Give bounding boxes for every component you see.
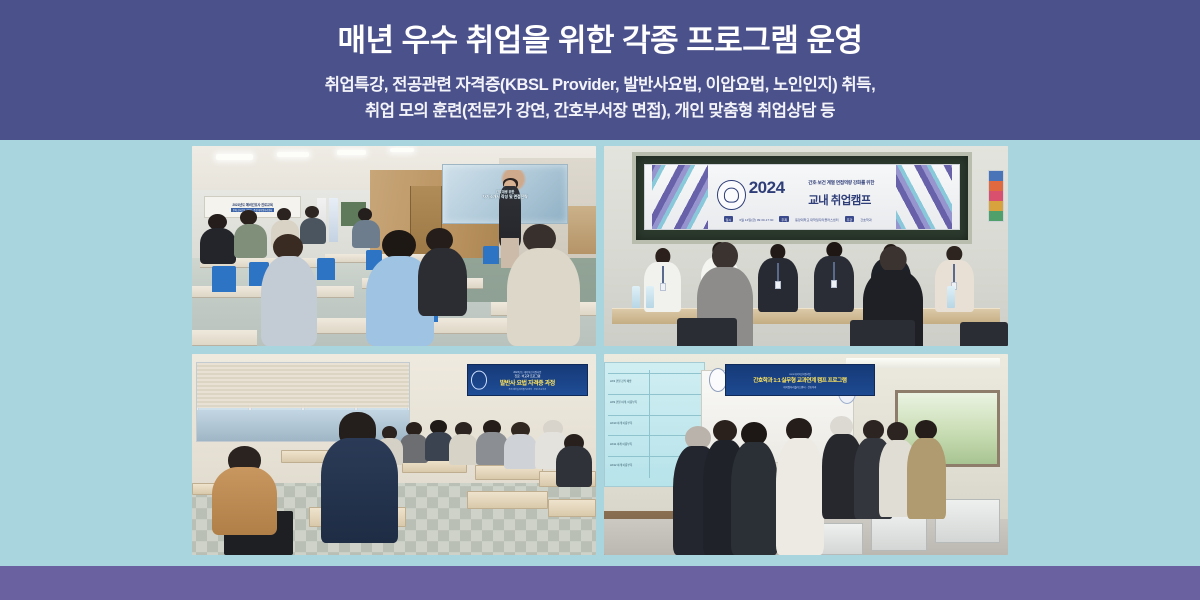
student-body bbox=[261, 256, 318, 346]
water-bottle bbox=[646, 286, 654, 308]
banner-meta-chip-date: 일시 bbox=[724, 216, 734, 222]
banner-year: 2024 bbox=[749, 178, 785, 198]
student-body bbox=[200, 228, 236, 264]
banner-meta-chip-org: 주관 bbox=[845, 216, 855, 222]
id-badge bbox=[775, 281, 781, 289]
event-banner: 2024 간호·보건 계열 면접역량 강화를 위한 교내 취업캠프 일시 6월 … bbox=[644, 164, 959, 230]
photo-lecture-hall: 2021년도 예비간호사 진로교육 주최 한국간호사협회 · 주관 대학일자리센… bbox=[192, 146, 596, 346]
chart-band bbox=[989, 171, 1003, 181]
chart-band bbox=[989, 191, 1003, 201]
panelist bbox=[814, 242, 854, 312]
banner-organizer: 주최 대학일자리플러스센터 · 주관 간호학과 bbox=[509, 388, 546, 391]
id-badge bbox=[831, 280, 837, 288]
banner-subtitle: 간호·보건 계열 면접역량 강화를 위한 bbox=[808, 180, 874, 186]
subtitle-line-1: 취업특강, 전공관련 자격증(KBSL Provider, 발반사요법, 이압요… bbox=[325, 73, 876, 99]
slide-root: 매년 우수 취업을 위한 각종 프로그램 운영 취업특강, 전공관련 자격증(K… bbox=[0, 0, 1200, 600]
page-subtitle: 취업특강, 전공관련 자격증(KBSL Provider, 발반사요법, 이압요… bbox=[325, 73, 876, 124]
classroom-chair bbox=[212, 266, 236, 292]
ceiling-light bbox=[390, 148, 414, 152]
footer-bar bbox=[0, 566, 1200, 600]
job-camp-scene: 2024 간호·보건 계열 면접역량 강화를 위한 교내 취업캠프 일시 6월 … bbox=[604, 146, 1008, 346]
chart-band bbox=[989, 181, 1003, 191]
ceiling-light bbox=[216, 154, 252, 160]
photo-gallery: 2021년도 예비간호사 진로교육 주최 한국간호사협회 · 주관 대학일자리센… bbox=[192, 146, 1008, 555]
student-head bbox=[887, 422, 908, 441]
window-row bbox=[196, 362, 410, 442]
university-emblem-icon bbox=[471, 371, 486, 390]
chart-band bbox=[989, 201, 1003, 211]
header-band: 매년 우수 취업을 위한 각종 프로그램 운영 취업특강, 전공관련 자격증(K… bbox=[0, 0, 1200, 140]
student-body bbox=[507, 248, 580, 346]
slide-line-1: 간호대생 위한 bbox=[496, 189, 514, 194]
lanyard bbox=[777, 263, 779, 281]
student-body bbox=[776, 438, 824, 555]
emblem-inner-shape bbox=[724, 188, 738, 203]
student-body bbox=[449, 434, 479, 464]
projection-row: HX9 관절 아래, 이중부목 bbox=[608, 394, 701, 410]
banner-title: 간호학과 1:1 실무형 교과연계 캠프 프로그램 bbox=[753, 376, 846, 384]
photo-practical-camp: HX3 관절 강직 예방 HX9 관절 아래, 이중부목 HX10 아래 이중부… bbox=[604, 354, 1008, 555]
subtitle-line-2: 취업 모의 훈련(전문가 강연, 간호부서장 면접), 개인 맞춤형 취업상담 … bbox=[325, 99, 876, 125]
classroom-chair bbox=[317, 258, 335, 280]
student-body bbox=[234, 224, 266, 258]
banner-organizer: 대학일자리플러스센터 · 간호학과 bbox=[783, 385, 816, 389]
audience-head bbox=[880, 246, 907, 273]
banner-meta-org: 간호학과 bbox=[860, 217, 871, 222]
audience-head bbox=[712, 242, 738, 270]
university-emblem-icon bbox=[717, 180, 745, 209]
course-banner: 2023년도 대학혁신지원사업 진로 · 비교과 프로그램 발반사 요법 자격증… bbox=[467, 364, 588, 396]
lecture-hall-scene: 2021년도 예비간호사 진로교육 주최 한국간호사협회 · 주관 대학일자리센… bbox=[192, 146, 596, 346]
flag-school bbox=[329, 198, 338, 242]
banner-title: 교내 취업캠프 bbox=[808, 192, 870, 208]
banner-meta-host: 동양대학교 대학일자리플러스센터 bbox=[795, 217, 839, 222]
ceiling-light bbox=[277, 152, 309, 157]
panelist bbox=[758, 244, 798, 312]
student-body bbox=[418, 248, 466, 316]
banner-meta-date: 6월 14일(금) 09:30-17:30 bbox=[739, 217, 773, 222]
student-body bbox=[731, 442, 777, 555]
lanyard bbox=[833, 262, 835, 280]
lectern bbox=[568, 206, 596, 254]
slide-line-2: 자기소개서 작성 및 면접전략 bbox=[483, 195, 528, 200]
classroom-chair bbox=[483, 246, 499, 264]
reflexology-scene: 2023년도 대학혁신지원사업 진로 · 비교과 프로그램 발반사 요법 자격증… bbox=[192, 354, 596, 555]
window-blind bbox=[197, 363, 409, 408]
student-body bbox=[300, 218, 326, 244]
audience-chair bbox=[960, 322, 1008, 346]
classroom-desk bbox=[467, 491, 548, 509]
student-body bbox=[504, 434, 537, 468]
banner-course-title: 발반사 요법 자격증 과정 bbox=[500, 378, 555, 387]
wall-banner-title: 2021년도 예비간호사 진로교육 bbox=[232, 202, 272, 207]
photo-reflexology: 2023년도 대학혁신지원사업 진로 · 비교과 프로그램 발반사 요법 자격증… bbox=[192, 354, 596, 555]
student-body bbox=[556, 446, 592, 486]
audience-chair bbox=[677, 318, 738, 346]
student-body-hoodie bbox=[321, 438, 398, 543]
water-bottle bbox=[947, 286, 955, 308]
camp-banner: 2023 대학혁신지원사업 간호학과 1:1 실무형 교과연계 캠프 프로그램 … bbox=[725, 364, 874, 396]
id-badge bbox=[660, 283, 666, 291]
wall-chart bbox=[988, 170, 1004, 222]
banner-meta: 일시 6월 14일(금) 09:30-17:30 주최 동양대학교 대학일자리플… bbox=[724, 216, 887, 222]
student-body bbox=[352, 220, 380, 248]
audience-chair bbox=[850, 320, 915, 346]
lanyard bbox=[953, 264, 955, 281]
page-title: 매년 우수 취업을 위한 각종 프로그램 운영 bbox=[337, 22, 862, 59]
student-body bbox=[907, 438, 946, 518]
photo-job-camp: 2024 간호·보건 계열 면접역량 강화를 위한 교내 취업캠프 일시 6월 … bbox=[604, 146, 1008, 346]
classroom-desk bbox=[192, 330, 257, 346]
classroom-desk bbox=[548, 499, 596, 517]
water-bottle bbox=[632, 286, 640, 308]
projection-row: HX3 관절 강직 예방 bbox=[608, 373, 701, 389]
banner-meta-chip-host: 주최 bbox=[779, 216, 789, 222]
lanyard bbox=[662, 266, 664, 283]
city-view bbox=[197, 410, 409, 441]
projection-row: HX10 아래 이중부목 bbox=[608, 415, 701, 431]
instructor-body bbox=[212, 467, 277, 535]
ceiling-light bbox=[337, 150, 365, 155]
chart-band bbox=[989, 211, 1003, 221]
practical-camp-scene: HX3 관절 강직 예방 HX9 관절 아래, 이중부목 HX10 아래 이중부… bbox=[604, 354, 1008, 555]
